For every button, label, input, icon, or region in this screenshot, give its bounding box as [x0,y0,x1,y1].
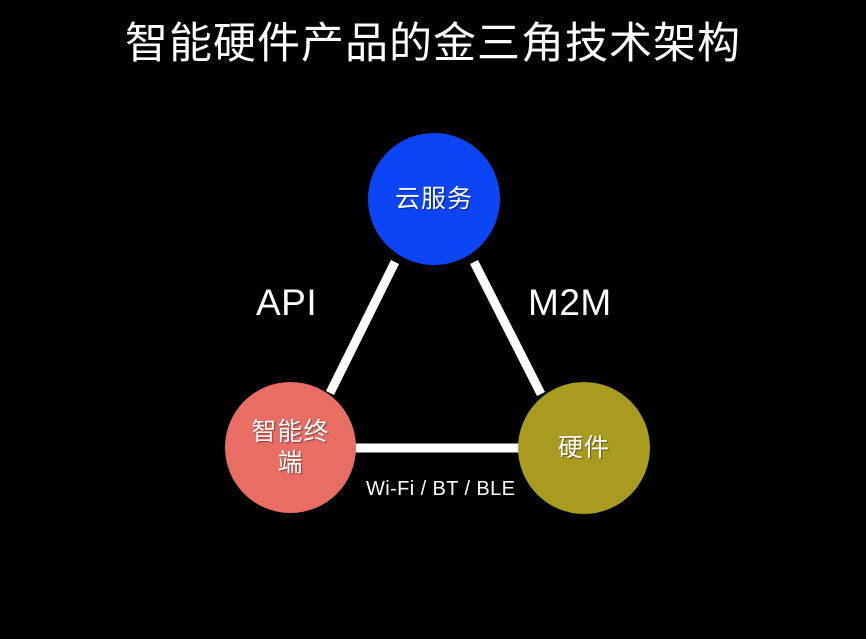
edge-label-api: API [256,281,317,325]
diagram-node-cloud-label: 云服务 [379,184,489,215]
edge-label-m2m: M2M [528,281,612,325]
diagram-node-terminal[interactable]: 智能终端 [225,382,356,513]
triangle-diagram: 云服务 智能终端 硬件 API M2M Wi-Fi / BT / BLE [0,0,866,639]
edge-line-api [330,262,395,393]
diagram-node-hardware[interactable]: 硬件 [518,382,650,514]
diagram-node-cloud[interactable]: 云服务 [368,133,500,265]
diagram-node-terminal-label: 智能终端 [225,417,356,479]
diagram-edges [0,0,866,639]
diagram-node-hardware-label: 硬件 [542,433,626,464]
presentation-slide: 智能硬件产品的金三角技术架构 云服务 智能终端 硬件 API M2M Wi-Fi… [0,0,866,639]
edge-label-wireless: Wi-Fi / BT / BLE [366,477,515,502]
